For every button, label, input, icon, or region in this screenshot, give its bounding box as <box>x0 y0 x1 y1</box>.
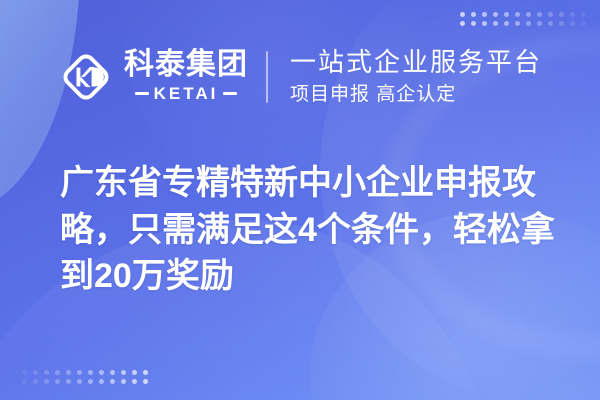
dot-grid-top-right <box>460 12 586 26</box>
decorative-dot <box>33 370 38 375</box>
decorative-dot <box>99 379 104 384</box>
decorative-dot <box>88 379 93 384</box>
brand-name-en: KETAI <box>154 84 219 104</box>
decorative-dot <box>77 379 82 384</box>
decorative-dot <box>77 370 82 375</box>
decorative-dot <box>515 12 520 17</box>
dot-grid-bottom-left <box>22 370 148 384</box>
decorative-dot <box>99 370 104 375</box>
decorative-dot <box>515 21 520 26</box>
decorative-dot <box>493 21 498 26</box>
decorative-dot <box>110 379 115 384</box>
decorative-dot <box>460 21 465 26</box>
decorative-dot <box>55 379 60 384</box>
decorative-dot <box>33 379 38 384</box>
decorative-dot <box>581 12 586 17</box>
tagline-primary: 一站式企业服务平台 <box>290 46 542 79</box>
tagline-secondary: 项目申报 高企认定 <box>290 83 542 108</box>
decorative-dot <box>537 21 542 26</box>
decorative-dot <box>548 12 553 17</box>
decorative-dot <box>143 370 148 375</box>
decorative-dot <box>66 379 71 384</box>
decorative-dot <box>559 12 564 17</box>
decorative-dot <box>504 12 509 17</box>
decorative-dot <box>132 379 137 384</box>
decorative-dot <box>471 21 476 26</box>
decorative-dot <box>482 12 487 17</box>
brand-rule-right-icon <box>223 92 237 95</box>
decorative-dot <box>537 12 542 17</box>
decorative-dot <box>504 21 509 26</box>
decorative-dot <box>143 379 148 384</box>
decorative-dot <box>526 21 531 26</box>
decorative-dot <box>44 379 49 384</box>
decorative-dot <box>66 370 71 375</box>
decorative-dot <box>44 370 49 375</box>
decorative-dot <box>460 12 465 17</box>
decorative-dot <box>548 21 553 26</box>
decorative-dot <box>22 379 27 384</box>
banner-header: 科泰集团 KETAI 一站式企业服务平台 项目申报 高企认定 <box>0 38 600 116</box>
decorative-dot <box>121 370 126 375</box>
ketai-diamond-kd-monogram-icon <box>58 49 114 105</box>
tagline-block: 一站式企业服务平台 项目申报 高企认定 <box>290 46 542 107</box>
brand-wordmark: 科泰集团 KETAI <box>124 50 248 104</box>
decorative-dot <box>581 21 586 26</box>
decorative-dot <box>471 12 476 17</box>
header-divider <box>266 51 268 103</box>
decorative-dot <box>55 370 60 375</box>
decorative-dot <box>570 21 575 26</box>
brand-lockup: 科泰集团 KETAI <box>58 49 248 105</box>
brand-name-cn: 科泰集团 <box>124 50 248 81</box>
decorative-dot <box>482 21 487 26</box>
brand-rule-left-icon <box>135 92 149 95</box>
decorative-dot <box>559 21 564 26</box>
decorative-dot <box>22 370 27 375</box>
decorative-dot <box>526 12 531 17</box>
banner-headline: 广东省专精特新中小企业申报攻略，只需满足这4个条件，轻松拿到20万奖励 <box>60 160 560 300</box>
decorative-dot <box>570 12 575 17</box>
brand-name-en-row: KETAI <box>135 84 238 104</box>
decorative-dot <box>132 370 137 375</box>
decorative-dot <box>121 379 126 384</box>
promo-banner: 科泰集团 KETAI 一站式企业服务平台 项目申报 高企认定 广东省专精特新中小… <box>0 0 600 400</box>
decorative-dot <box>110 370 115 375</box>
decorative-dot <box>493 12 498 17</box>
decorative-dot <box>88 370 93 375</box>
